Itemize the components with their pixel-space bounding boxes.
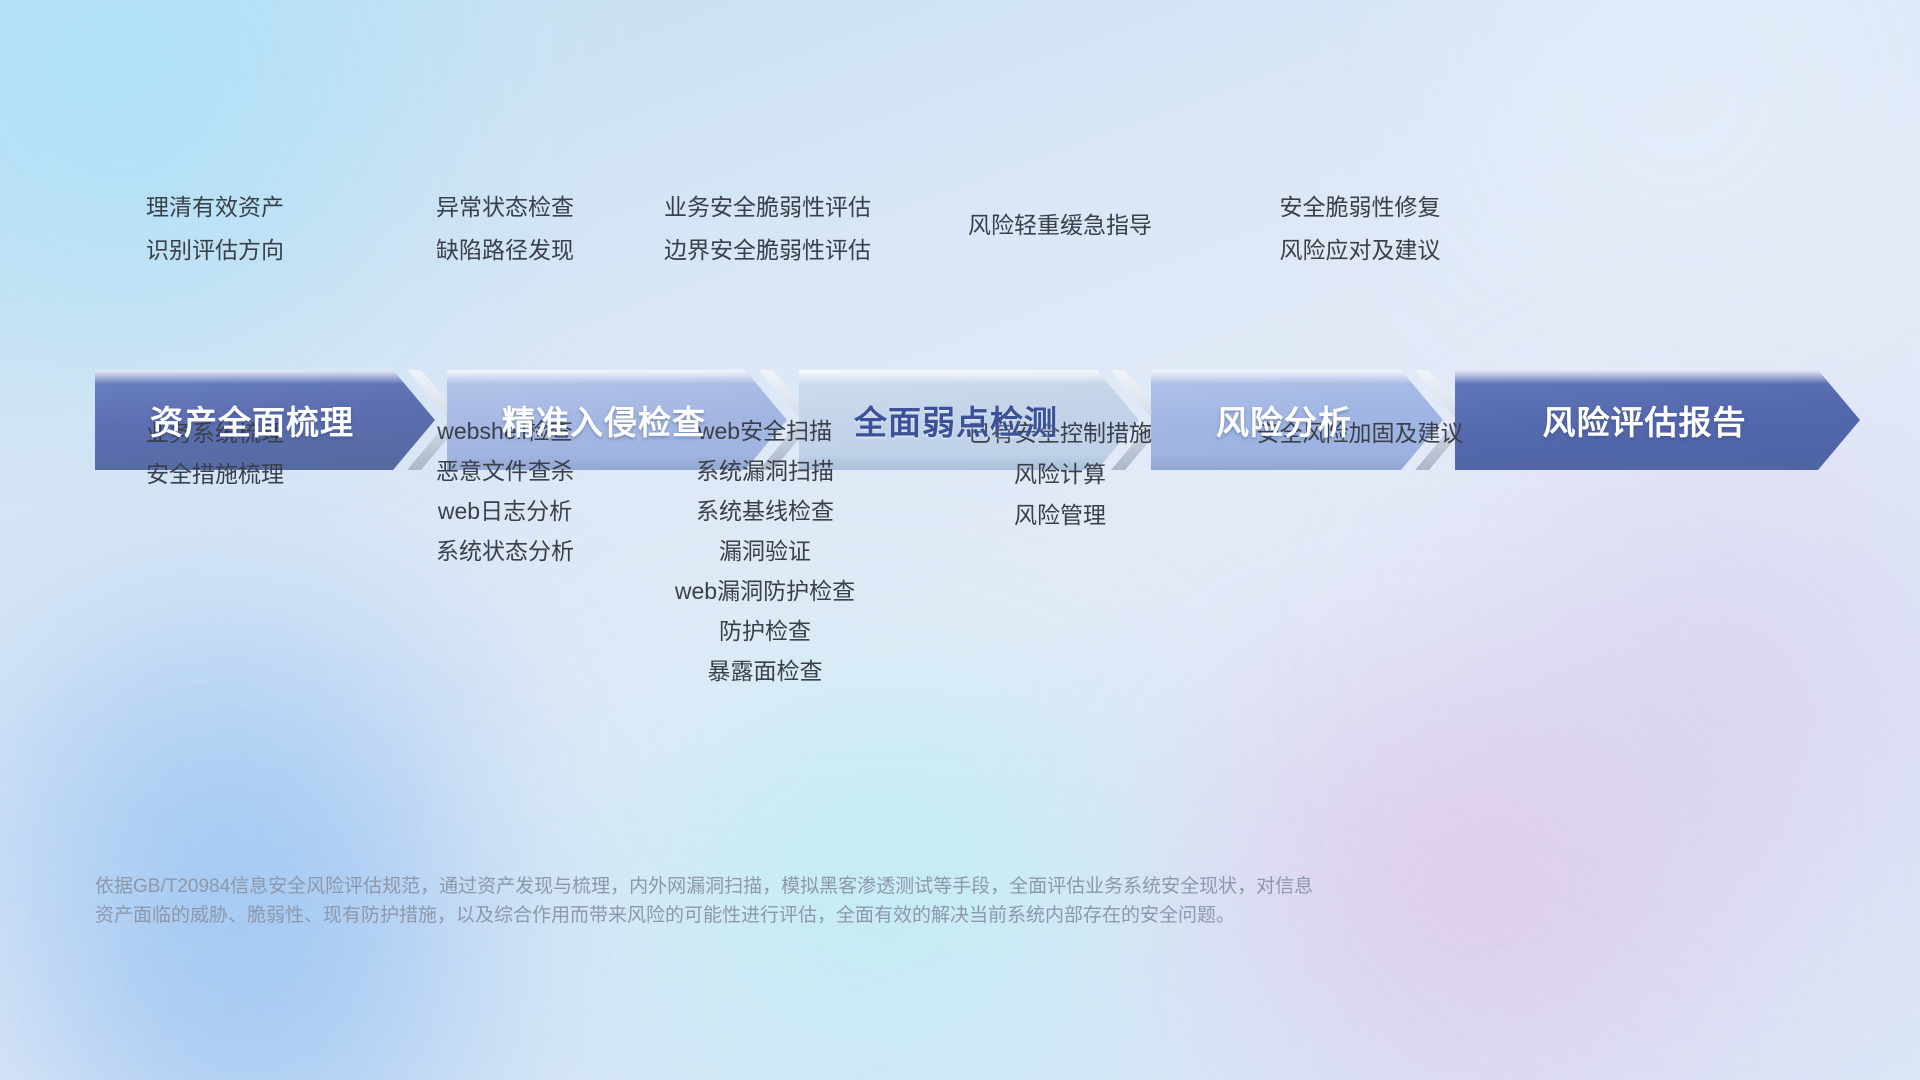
list-item: 风险计算: [905, 463, 1215, 486]
chevron-step-5[interactable]: 风险评估报告: [1455, 370, 1860, 470]
list-item: 系统漏洞扫描: [605, 460, 925, 483]
footer-line-1: 依据GB/T20984信息安全风险评估规范，通过资产发现与梳理，内外网漏洞扫描，…: [95, 872, 1595, 901]
chevron-step-1-label: 资产全面梳理: [150, 396, 380, 444]
step-3-bottom-items: web安全扫描 系统漏洞扫描 系统基线检查 漏洞验证 web漏洞防护检查 防护检…: [605, 420, 925, 700]
diagram-stage: 理清有效资产 识别评估方向 异常状态检查 缺陷路径发现 业务安全脆弱性评估 边界…: [0, 0, 1920, 1080]
step-3-top-items: 业务安全脆弱性评估 边界安全脆弱性评估: [610, 196, 925, 262]
list-item: 安全脆弱性修复: [1200, 196, 1520, 219]
footer-description: 依据GB/T20984信息安全风险评估规范，通过资产发现与梳理，内外网漏洞扫描，…: [95, 872, 1595, 931]
list-item: 识别评估方向: [60, 239, 370, 262]
step-4-top-items: 风险轻重缓急指导: [905, 214, 1215, 237]
list-item: 防护检查: [605, 620, 925, 643]
list-item: 暴露面检查: [605, 660, 925, 683]
list-item: 业务安全脆弱性评估: [610, 196, 925, 219]
chevron-step-4-label: 风险分析: [1216, 396, 1378, 444]
chevron-step-3-label: 全面弱点检测: [854, 396, 1084, 444]
list-item: 边界安全脆弱性评估: [610, 239, 925, 262]
list-item: 风险轻重缓急指导: [905, 214, 1215, 237]
list-item: 漏洞验证: [605, 540, 925, 563]
step-5-top-items: 安全脆弱性修复 风险应对及建议: [1200, 196, 1520, 262]
list-item: 风险管理: [905, 504, 1215, 527]
list-item: 风险应对及建议: [1200, 239, 1520, 262]
list-item: 安全措施梳理: [60, 463, 370, 486]
list-item: 理清有效资产: [60, 196, 370, 219]
chevron-step-5-label: 风险评估报告: [1543, 396, 1773, 444]
chevron-step-2-label: 精准入侵检查: [502, 396, 732, 444]
list-item: 系统基线检查: [605, 500, 925, 523]
step-1-top-items: 理清有效资产 识别评估方向: [60, 196, 370, 262]
footer-line-2: 资产面临的威胁、脆弱性、现有防护措施，以及综合作用而带来风险的可能性进行评估，全…: [95, 901, 1595, 930]
list-item: web漏洞防护检查: [605, 580, 925, 603]
